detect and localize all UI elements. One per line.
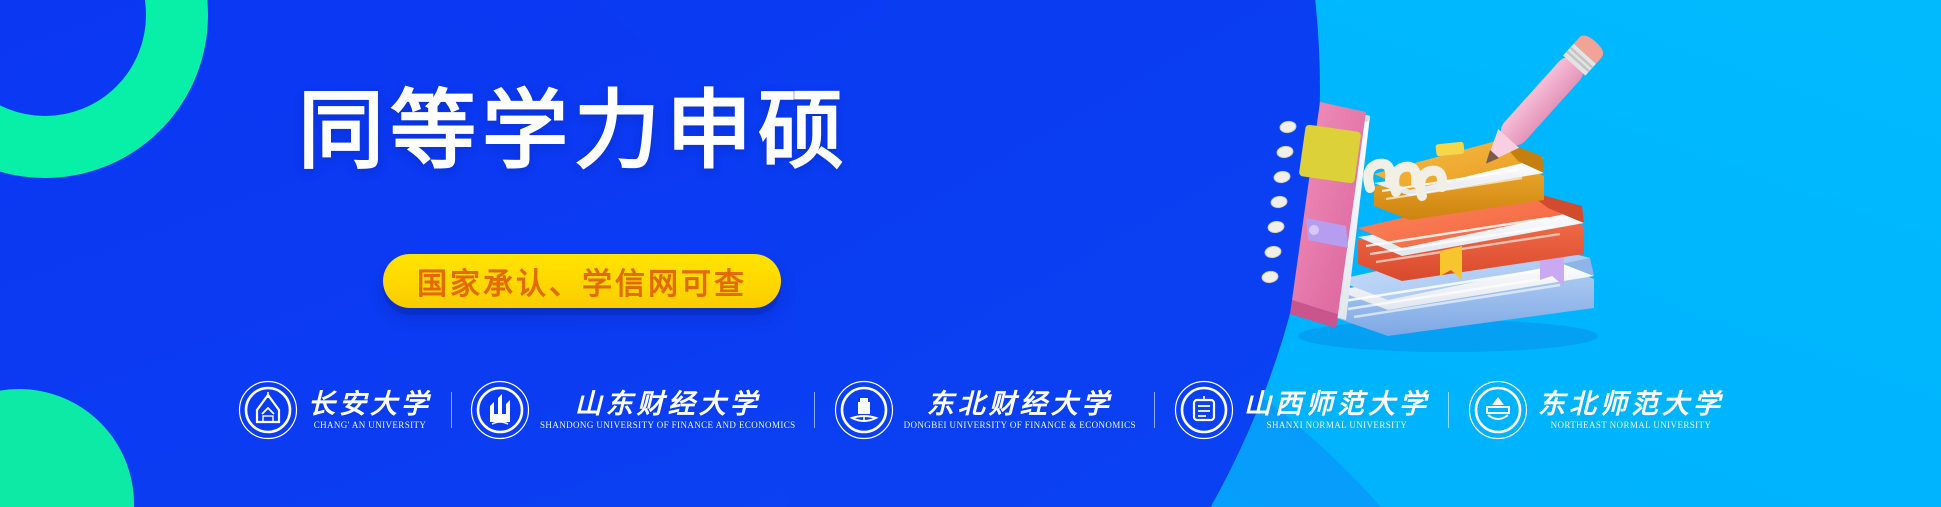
university-name-en: SHANXI NORMAL UNIVERSITY	[1267, 421, 1408, 430]
university-name-cn: 山东财经大学	[575, 391, 761, 418]
promo-banner: 同等学力申硕 国家承认、学信网可查 长安大学 CHANG' AN UNIVERS…	[0, 0, 1941, 507]
chang-an-university-seal-icon	[238, 380, 298, 440]
dongbei-university-of-finance-and-economics-seal-icon	[834, 380, 894, 440]
shanxi-normal-university-seal-icon	[1174, 380, 1234, 440]
university-logo-item[interactable]: 山东财经大学 SHANDONG UNIVERSITY OF FINANCE AN…	[470, 379, 796, 441]
university-name-en: SHANDONG UNIVERSITY OF FINANCE AND ECONO…	[540, 421, 796, 430]
university-name-cn: 东北财经大学	[927, 391, 1113, 418]
university-logo-item[interactable]: 东北财经大学 DONGBEI UNIVERSITY OF FINANCE & E…	[834, 379, 1136, 441]
stacked-books-illustration	[1218, 18, 1648, 368]
logo-divider	[814, 392, 815, 428]
logo-divider	[451, 392, 452, 428]
university-name-en: NORTHEAST NORMAL UNIVERSITY	[1551, 421, 1712, 430]
logo-divider	[1448, 392, 1449, 428]
university-logo-item[interactable]: 山西师范大学 SHANXI NORMAL UNIVERSITY	[1174, 379, 1430, 441]
certification-badge-label: 国家承认、学信网可查	[417, 259, 747, 303]
university-logo-strip: 长安大学 CHANG' AN UNIVERSITY 山东财经大学 SHANDON…	[238, 374, 1724, 446]
university-logo-item[interactable]: 长安大学 CHANG' AN UNIVERSITY	[238, 379, 432, 441]
page-title: 同等学力申硕	[298, 86, 850, 176]
university-name-cn: 长安大学	[308, 391, 432, 418]
university-name-en: DONGBEI UNIVERSITY OF FINANCE & ECONOMIC…	[904, 421, 1136, 430]
shandong-university-of-finance-and-economics-seal-icon	[470, 380, 530, 440]
university-logo-item[interactable]: 东北师范大学 NORTHEAST NORMAL UNIVERSITY	[1468, 379, 1724, 441]
university-name-cn: 山西师范大学	[1244, 391, 1430, 418]
university-name-cn: 东北师范大学	[1538, 391, 1724, 418]
logo-divider	[1154, 392, 1155, 428]
university-name-en: CHANG' AN UNIVERSITY	[314, 421, 427, 430]
northeast-normal-university-seal-icon	[1468, 380, 1528, 440]
certification-badge[interactable]: 国家承认、学信网可查	[383, 254, 781, 308]
